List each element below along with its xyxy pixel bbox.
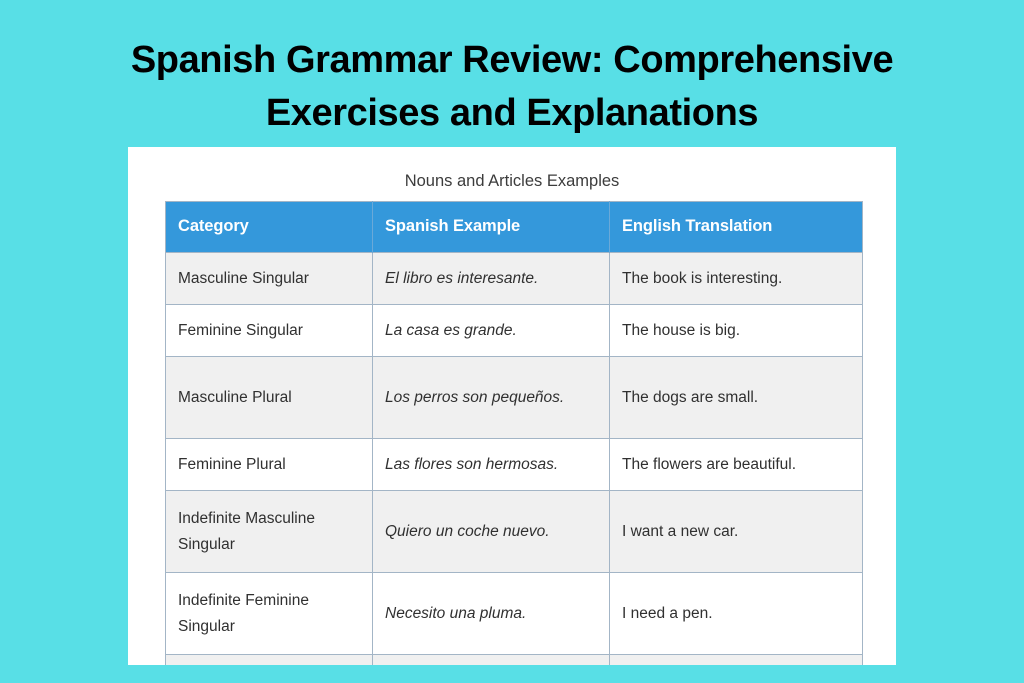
- cell-spanish: Necesito una pluma.: [373, 573, 610, 655]
- cell-english: The book is interesting.: [610, 253, 863, 305]
- table-header: Category Spanish Example English Transla…: [166, 202, 863, 253]
- column-header-spanish-example: Spanish Example: [373, 202, 610, 253]
- cell-category: Indefinite Masculine Singular: [166, 491, 373, 573]
- table-row: Indefinite Masculine Singular Quiero un …: [166, 491, 863, 573]
- table-row: Masculine Singular El libro es interesan…: [166, 253, 863, 305]
- cell-spanish: La casa es grande.: [373, 305, 610, 357]
- table-body: Masculine Singular El libro es interesan…: [166, 253, 863, 666]
- cell-spanish: Los perros son pequeños.: [373, 357, 610, 439]
- table-caption: Nouns and Articles Examples: [128, 147, 896, 201]
- table-container: Category Spanish Example English Transla…: [128, 201, 896, 665]
- cell-spanish: Las flores son hermosas.: [373, 439, 610, 491]
- table-row: Feminine Singular La casa es grande. The…: [166, 305, 863, 357]
- table-row: Feminine Plural Las flores son hermosas.…: [166, 439, 863, 491]
- cell-category: Feminine Singular: [166, 305, 373, 357]
- table-header-row: Category Spanish Example English Transla…: [166, 202, 863, 253]
- cell-spanish: El libro es interesante.: [373, 253, 610, 305]
- page-title: Spanish Grammar Review: Comprehensive Ex…: [0, 34, 1024, 140]
- cell-english: [610, 655, 863, 666]
- table-row: Masculine Plural Los perros son pequeños…: [166, 357, 863, 439]
- cell-english: I want a new car.: [610, 491, 863, 573]
- column-header-english-translation: English Translation: [610, 202, 863, 253]
- table-card: Nouns and Articles Examples Category Spa…: [128, 147, 896, 665]
- cell-category: Indefinite Feminine Singular: [166, 573, 373, 655]
- cell-english: The house is big.: [610, 305, 863, 357]
- grammar-table: Category Spanish Example English Transla…: [165, 201, 863, 665]
- cell-spanish: [373, 655, 610, 666]
- cell-category: Masculine Singular: [166, 253, 373, 305]
- cell-category: Masculine Plural: [166, 357, 373, 439]
- cell-category: Feminine Plural: [166, 439, 373, 491]
- cell-english: The dogs are small.: [610, 357, 863, 439]
- cell-spanish: Quiero un coche nuevo.: [373, 491, 610, 573]
- cell-english: I need a pen.: [610, 573, 863, 655]
- table-row: Indefinite Feminine Singular Necesito un…: [166, 573, 863, 655]
- table-row-clipped: [166, 655, 863, 666]
- column-header-category: Category: [166, 202, 373, 253]
- cell-category: [166, 655, 373, 666]
- cell-english: The flowers are beautiful.: [610, 439, 863, 491]
